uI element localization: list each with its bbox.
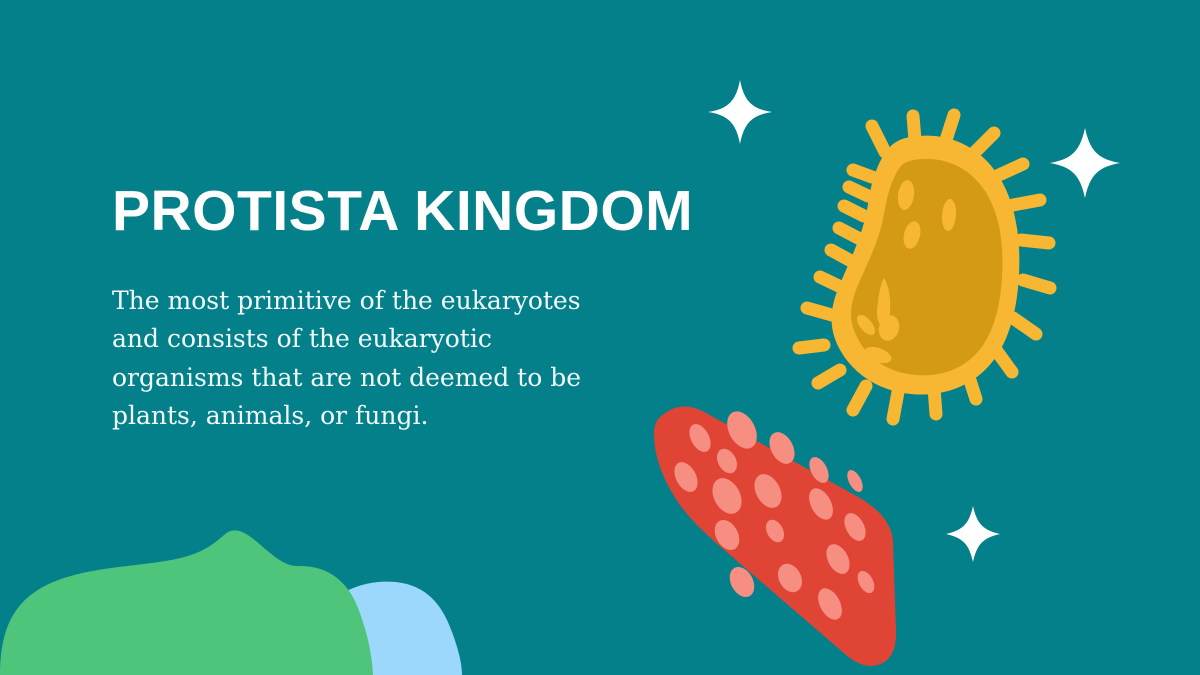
slide-canvas: PROTISTA KINGDOM The most primitive of t… — [0, 0, 1200, 675]
slide-description: The most primitive of the eukaryotes and… — [112, 282, 612, 436]
slide-text-block: PROTISTA KINGDOM The most primitive of t… — [112, 182, 672, 436]
ciliate-group — [799, 115, 1050, 419]
page-title: PROTISTA KINGDOM — [112, 182, 672, 242]
